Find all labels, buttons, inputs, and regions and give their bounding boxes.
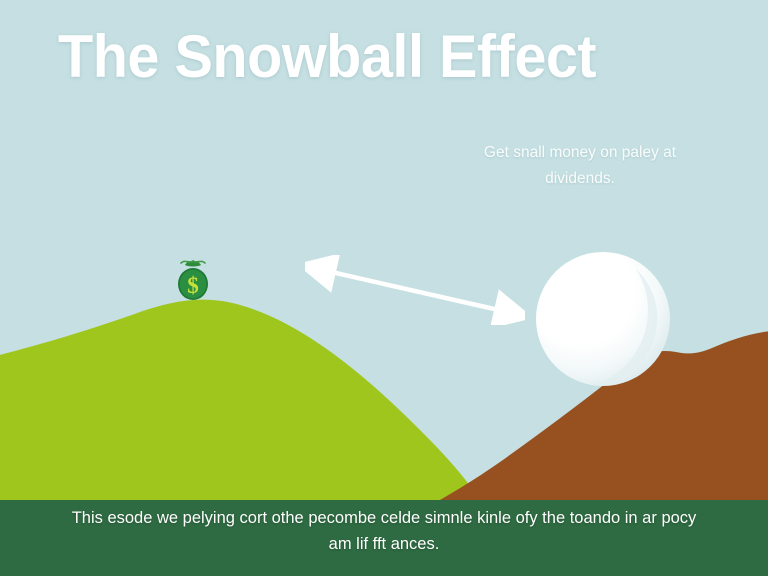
- page-title: The Snowball Effect: [58, 22, 692, 92]
- slide-canvas: The Snowball Effect Get snall money on p…: [0, 0, 768, 576]
- money-bag-dollar-symbol: $: [187, 273, 199, 298]
- snowball-icon: [535, 251, 671, 387]
- subtitle-text: Get snall money on paley at dividends.: [455, 140, 705, 192]
- footer-caption: This esode we pelying cort othe pecombe …: [60, 505, 708, 557]
- arrow-shaft: [327, 271, 503, 311]
- money-bag-icon: $: [173, 256, 213, 304]
- double-headed-arrow-icon: [305, 255, 525, 325]
